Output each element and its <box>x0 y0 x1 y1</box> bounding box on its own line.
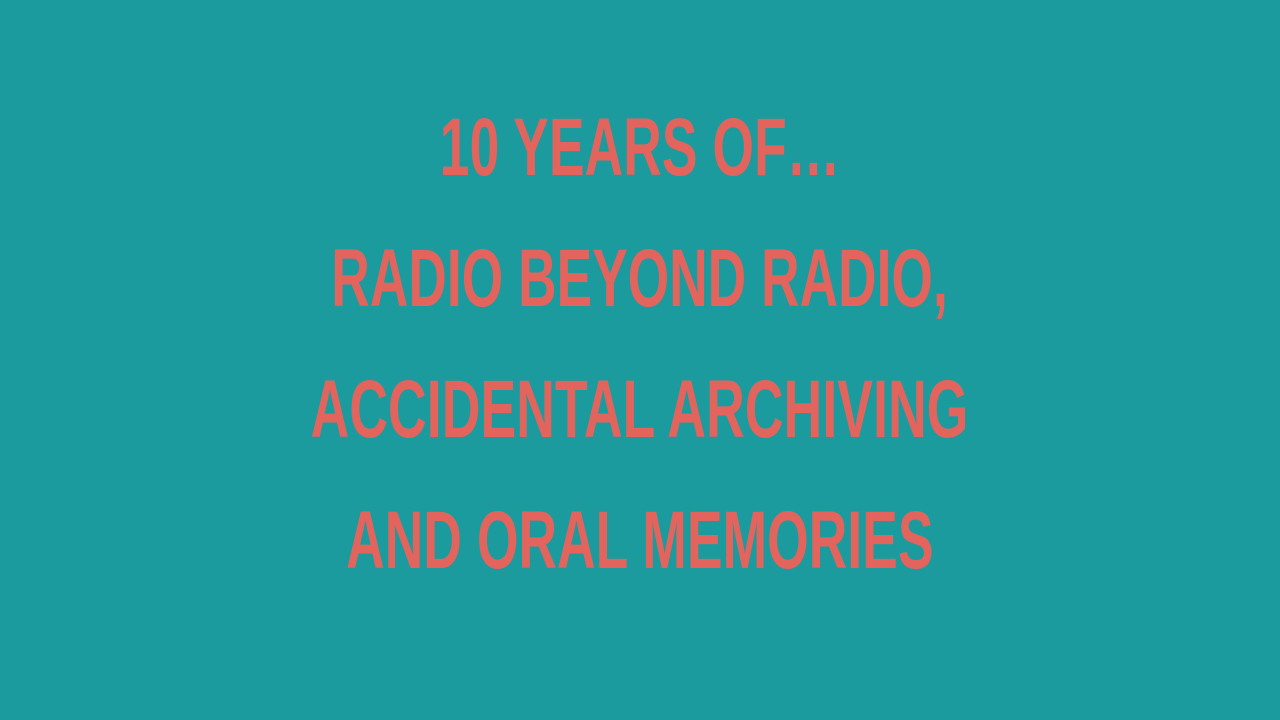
title-line-1-text: 10 YEARS OF… <box>440 94 840 202</box>
title-slide: 10 YEARS OF… RADIO BEYOND RADIO, ACCIDEN… <box>0 0 1280 720</box>
title-line-1: 10 YEARS OF… <box>0 94 1280 225</box>
title-block: 10 YEARS OF… RADIO BEYOND RADIO, ACCIDEN… <box>0 94 1280 618</box>
title-line-2-text: RADIO BEYOND RADIO, <box>332 225 948 333</box>
title-line-2: RADIO BEYOND RADIO, <box>0 225 1280 356</box>
title-line-3: ACCIDENTAL ARCHIVING <box>0 356 1280 487</box>
title-line-4: AND ORAL MEMORIES <box>0 487 1280 618</box>
title-line-4-text: AND ORAL MEMORIES <box>346 487 933 595</box>
title-line-3-text: ACCIDENTAL ARCHIVING <box>311 356 969 464</box>
